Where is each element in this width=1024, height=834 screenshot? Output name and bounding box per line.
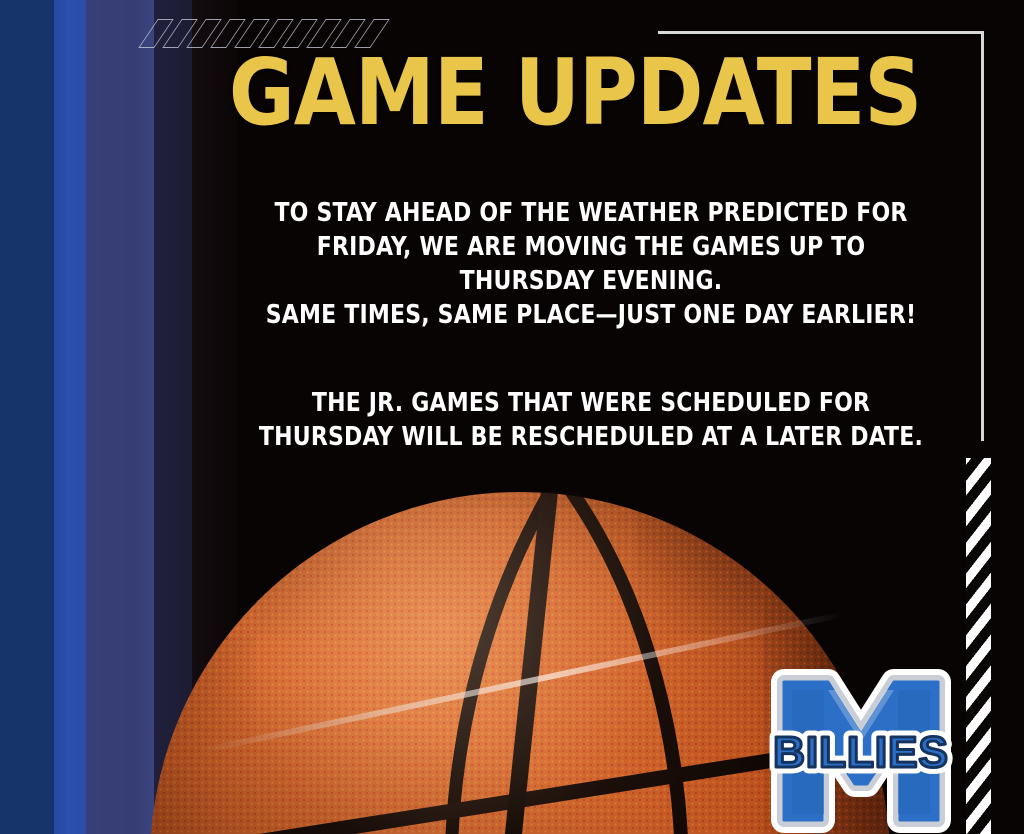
announcement-line: THE JR. GAMES THAT WERE SCHEDULED FOR <box>214 386 969 420</box>
announcement-line: THURSDAY WILL BE RESCHEDULED AT A LATER … <box>214 420 969 454</box>
frame-rule-top <box>658 31 984 34</box>
diagonal-stripe-bar-icon <box>966 458 991 834</box>
logo-wordmark: BILLIES BILLIES <box>773 728 949 777</box>
announcement-paragraph-1: TO STAY AHEAD OF THE WEATHER PREDICTED F… <box>214 196 969 332</box>
announcement-line: SAME TIMES, SAME PLACE—JUST ONE DAY EARL… <box>214 298 969 332</box>
page-title: GAME UPDATES <box>15 47 1008 139</box>
game-updates-poster: GAME UPDATES TO STAY AHEAD OF THE WEATHE… <box>0 0 1024 834</box>
announcement-body: TO STAY AHEAD OF THE WEATHER PREDICTED F… <box>214 196 969 454</box>
basketball-seam-highlight <box>197 611 844 754</box>
announcement-paragraph-2: THE JR. GAMES THAT WERE SCHEDULED FOR TH… <box>214 386 969 454</box>
billies-team-logo: BILLIES BILLIES <box>766 668 956 834</box>
announcement-line: FRIDAY, WE ARE MOVING THE GAMES UP TO <box>214 230 969 264</box>
announcement-line: THURSDAY EVENING. <box>214 264 969 298</box>
paragraph-spacer <box>214 332 969 386</box>
logo-wordmark-text: BILLIES <box>773 728 949 777</box>
announcement-line: TO STAY AHEAD OF THE WEATHER PREDICTED F… <box>214 196 969 230</box>
basketball-seam-vertical <box>462 492 558 834</box>
